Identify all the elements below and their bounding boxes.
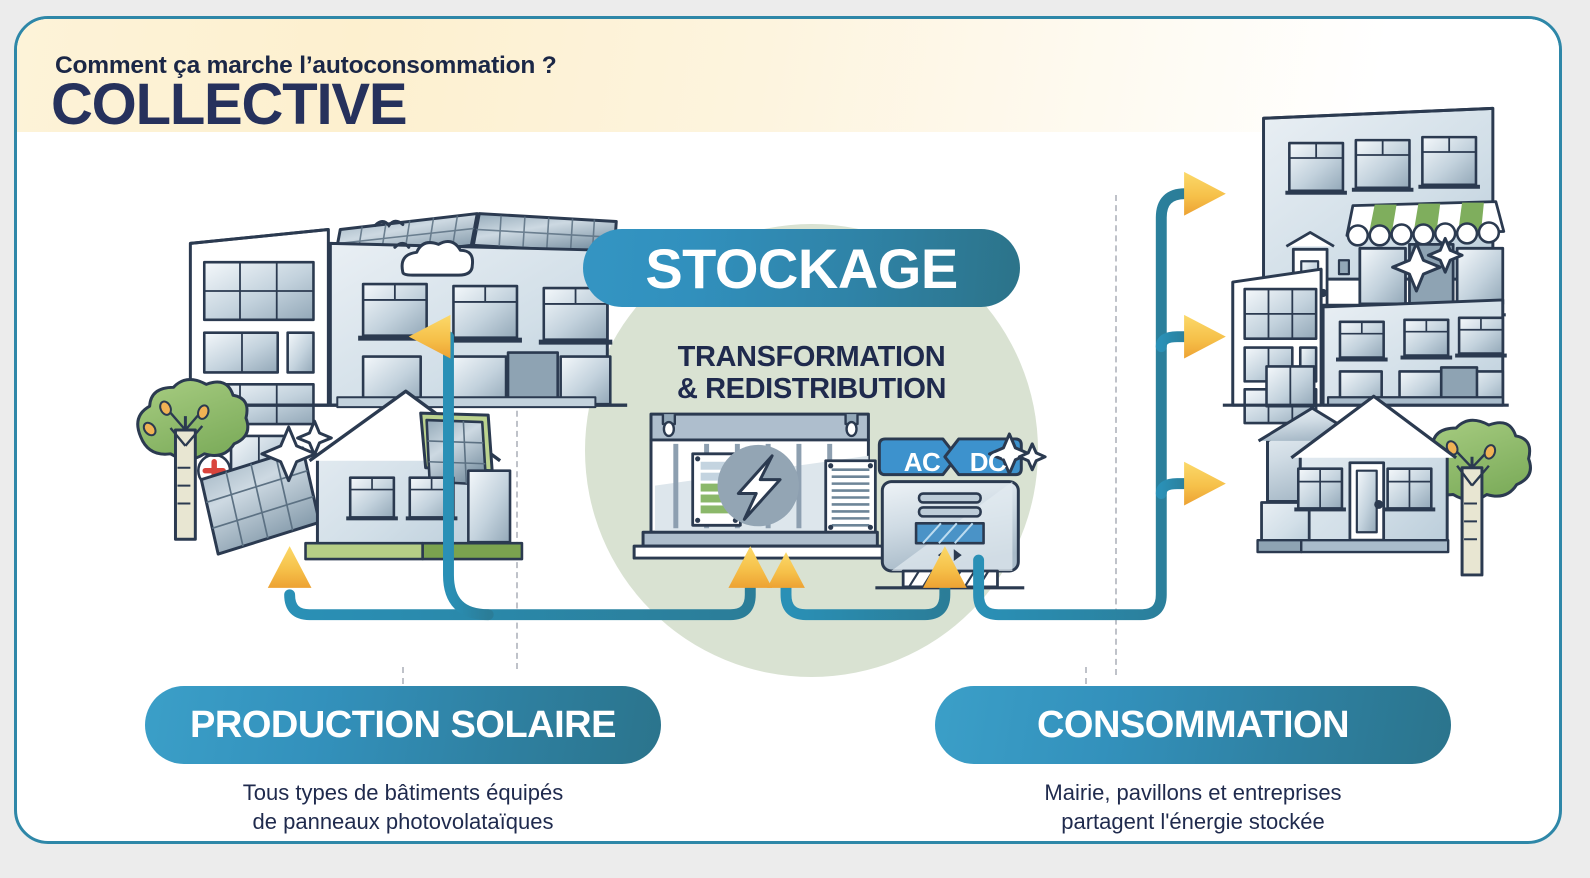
page-title: COLLECTIVE [51, 76, 406, 134]
sparkle-icon [262, 421, 331, 481]
standalone-solar-panel-icon [201, 448, 319, 554]
stockage-pill[interactable]: STOCKAGE [583, 229, 1020, 307]
sparkle-icon [1393, 238, 1462, 291]
arrow-right-shop [1184, 172, 1226, 216]
consommation-caption-line1: Mairie, pavillons et entreprises [935, 779, 1451, 808]
consommation-caption-line2: partagent l'énergie stockée [935, 808, 1451, 837]
tree-icon [1420, 420, 1530, 575]
office-building-icon [1223, 269, 1509, 423]
production-solaire-pill[interactable]: PRODUCTION SOLAIRE [145, 686, 661, 764]
shop-building-with-awning-icon [1254, 108, 1506, 314]
arrow-left-hospital [409, 315, 451, 359]
hospital-building-with-solar-panels-icon [181, 214, 627, 492]
arrow-right-house [1184, 462, 1226, 506]
infographic-card: Comment ça marche l’autoconsommation ? C… [14, 16, 1562, 844]
column-divider-left [516, 219, 518, 669]
house-with-solar-panel-icon [306, 391, 522, 559]
storage-subtitle: TRANSFORMATION & REDISTRIBUTION [585, 341, 1038, 406]
converter-dc-label: DC [949, 447, 1027, 478]
production-caption-line1: Tous types de bâtiments équipés [145, 779, 661, 808]
column-divider-right [1115, 195, 1117, 675]
production-caption: Tous types de bâtiments équipés de panne… [145, 779, 661, 836]
residential-house-icon [1258, 396, 1457, 552]
storage-subtitle-line1: TRANSFORMATION [585, 341, 1038, 373]
arrow-right-office [1184, 315, 1226, 359]
cloud-icon [402, 241, 472, 275]
arrow-up-house-left [268, 546, 312, 588]
production-caption-line2: de panneaux photovolataïques [145, 808, 661, 837]
infographic-root: Comment ça marche l’autoconsommation ? C… [0, 0, 1590, 878]
tree-icon [138, 380, 248, 540]
storage-subtitle-line2: & REDISTRIBUTION [585, 373, 1038, 405]
consommation-caption: Mairie, pavillons et entreprises partage… [935, 779, 1451, 836]
birds-icon [375, 221, 409, 247]
consommation-pill[interactable]: CONSOMMATION [935, 686, 1451, 764]
